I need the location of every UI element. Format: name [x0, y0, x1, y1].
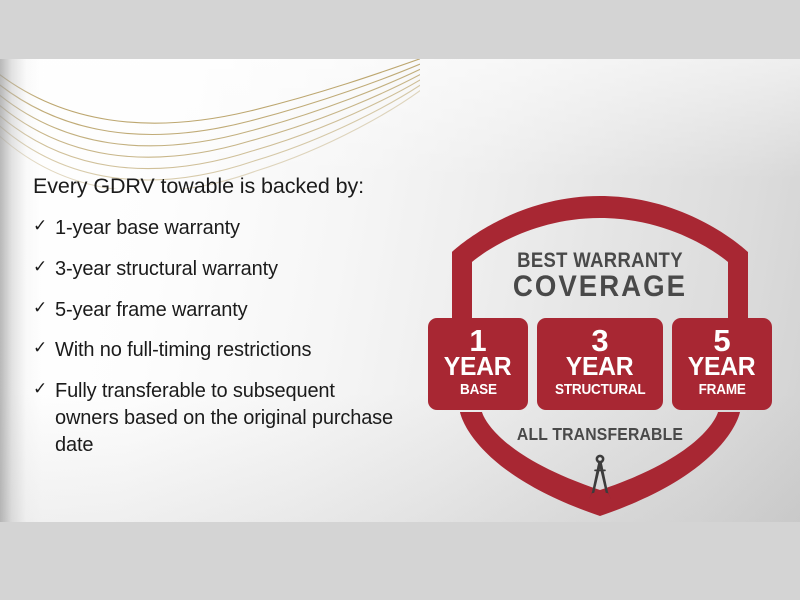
- warranty-term-boxes: 1 YEAR BASE 3 YEAR STRUCTURAL 5 YEAR FRA…: [408, 318, 792, 410]
- check-icon: ✓: [33, 378, 55, 400]
- warranty-box-number: 3: [591, 328, 608, 355]
- list-item-label: With no full-timing restrictions: [55, 337, 311, 364]
- warranty-box-label: FRAME: [698, 381, 745, 400]
- check-icon: ✓: [33, 337, 55, 359]
- list-item: ✓ Fully transferable to subsequent owner…: [33, 378, 433, 458]
- banner-image: Every GDRV towable is backed by: ✓ 1-yea…: [0, 0, 800, 600]
- drafting-compass-icon: [578, 452, 622, 504]
- list-item: ✓ 3-year structural warranty: [33, 256, 433, 283]
- badge-title-line2: COVERAGE: [416, 270, 784, 304]
- warranty-box-unit: YEAR: [444, 354, 511, 379]
- warranty-text-column: Every GDRV towable is backed by: ✓ 1-yea…: [33, 174, 433, 473]
- warranty-box-label: STRUCTURAL: [555, 381, 645, 400]
- list-item-label: 3-year structural warranty: [55, 256, 278, 283]
- warranty-box-number: 5: [713, 328, 730, 355]
- warranty-box-structural: 3 YEAR STRUCTURAL: [537, 318, 663, 410]
- warranty-box-unit: YEAR: [688, 354, 755, 379]
- page-title: Every GDRV towable is backed by:: [33, 174, 433, 199]
- badge-footer-label: ALL TRANSFERABLE: [420, 424, 780, 445]
- list-item-label: 1-year base warranty: [55, 215, 240, 242]
- list-item: ✓ 1-year base warranty: [33, 215, 433, 242]
- list-item-label: 5-year frame warranty: [55, 297, 247, 324]
- check-icon: ✓: [33, 215, 55, 237]
- check-icon: ✓: [33, 256, 55, 278]
- letterbox-bottom: [0, 522, 800, 600]
- list-item: ✓ With no full-timing restrictions: [33, 337, 433, 364]
- warranty-box-unit: YEAR: [566, 354, 633, 379]
- letterbox-top: [0, 0, 800, 59]
- gold-swoosh-lines: [0, 59, 420, 189]
- list-item-label: Fully transferable to subsequent owners …: [55, 378, 403, 458]
- check-icon: ✓: [33, 297, 55, 319]
- warranty-box-label: BASE: [460, 381, 497, 400]
- list-item: ✓ 5-year frame warranty: [33, 297, 433, 324]
- warranty-badge: BEST WARRANTY COVERAGE 1 YEAR BASE 3 YEA…: [400, 154, 800, 522]
- warranty-box-base: 1 YEAR BASE: [428, 318, 528, 410]
- content-panel: Every GDRV towable is backed by: ✓ 1-yea…: [0, 59, 800, 522]
- warranty-box-frame: 5 YEAR FRAME: [672, 318, 772, 410]
- warranty-box-number: 1: [469, 328, 486, 355]
